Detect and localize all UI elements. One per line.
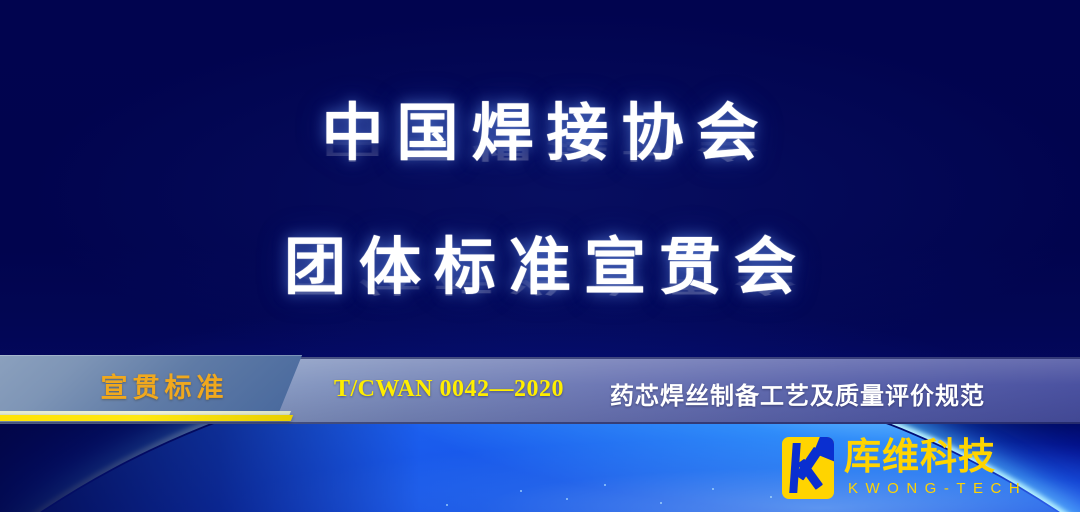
logo-wordmark: 库维科技 KWONG-TECH [844,437,1027,499]
star-speck [770,496,772,498]
star-speck [520,490,522,492]
star-speck [604,484,606,486]
ribbon-gold-underline [0,415,293,421]
kwong-k-logo-icon [782,437,834,499]
conference-banner-poster: 中国焊接协会 中国焊接协会 团体标准宣贯会 团体标准宣贯会 宣贯标准 T/CWA… [0,0,1080,512]
star-speck [566,498,568,500]
company-logo: 库维科技 KWONG-TECH [782,437,1027,499]
logo-name-en: KWONG-TECH [844,479,1027,499]
band-bottom-rule [0,422,1080,424]
title-line-1: 中国焊接协会 [0,96,1080,172]
main-title: 中国焊接协会 中国焊接协会 团体标准宣贯会 团体标准宣贯会 [0,96,1080,352]
logo-name-cn: 库维科技 [844,437,1027,477]
star-speck [712,488,714,490]
star-speck [446,504,448,506]
title-line-2: 团体标准宣贯会 [0,230,1080,306]
standard-name: 药芯焊丝制备工艺及质量评价规范 [610,376,985,411]
standard-code: T/CWAN 0042—2020 [334,376,564,403]
star-speck [660,502,662,504]
ribbon-label: 宣贯标准 [72,366,252,405]
